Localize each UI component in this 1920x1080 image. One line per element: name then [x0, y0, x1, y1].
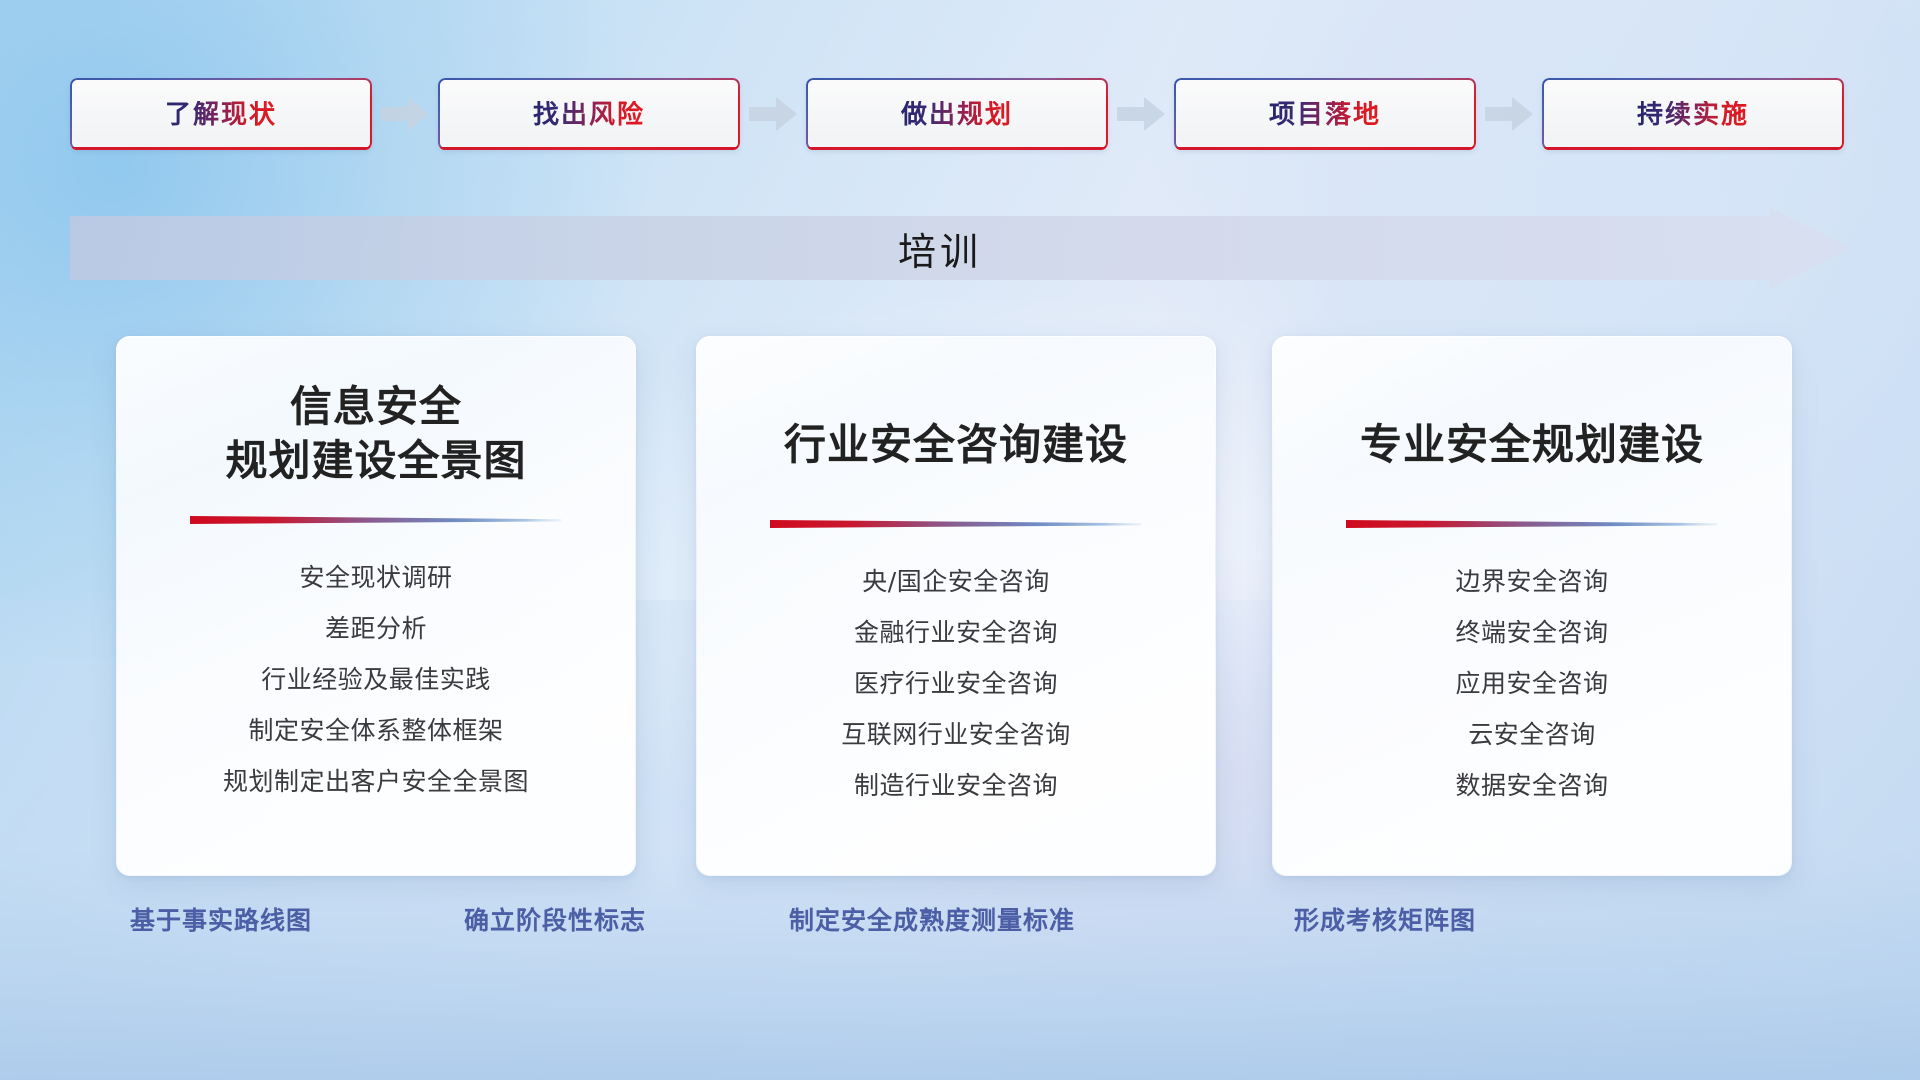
step-label-2: 找出风险: [533, 101, 645, 127]
card-industry-security-consulting[interactable]: 行业安全咨询建设: [696, 336, 1216, 876]
arrow-right-icon: [1108, 78, 1174, 150]
arrow-right-icon: [372, 78, 438, 150]
list-item: 制造行业安全咨询: [724, 760, 1188, 811]
card-divider-1: [190, 514, 561, 526]
card-title-2: 行业安全咨询建设: [784, 380, 1128, 472]
list-item: 云安全咨询: [1300, 709, 1764, 760]
step-label-3: 做出规划: [901, 101, 1013, 127]
arrow-right-icon: [1476, 78, 1542, 150]
card-information-security[interactable]: 信息安全 规划建设全景图: [116, 336, 636, 876]
card-divider-3: [1346, 518, 1717, 530]
footer-caption-4: 形成考核矩阵图: [1294, 908, 1476, 933]
card-title-line: 行业安全咨询建设: [784, 418, 1128, 472]
step-box-2[interactable]: 找出风险: [438, 78, 740, 150]
list-item: 安全现状调研: [144, 552, 608, 603]
step-box-4[interactable]: 项目落地: [1174, 78, 1476, 150]
arrow-right-icon: [740, 78, 806, 150]
list-item: 行业经验及最佳实践: [144, 654, 608, 705]
list-item: 医疗行业安全咨询: [724, 658, 1188, 709]
step-label-4: 项目落地: [1269, 101, 1381, 127]
step-box-5[interactable]: 持续实施: [1542, 78, 1844, 150]
card-list-2: 央/国企安全咨询 金融行业安全咨询 医疗行业安全咨询 互联网行业安全咨询 制造行…: [724, 556, 1188, 811]
list-item: 数据安全咨询: [1300, 760, 1764, 811]
training-band-label: 培训: [70, 208, 1850, 288]
footer-caption-row: 基于事实路线图 确立阶段性标志 制定安全成熟度测量标准 形成考核矩阵图: [0, 908, 1920, 960]
footer-caption-1: 基于事实路线图: [130, 908, 312, 933]
slide-canvas: 了解现状 找出风险 做出规划 项目落地: [0, 0, 1920, 1080]
card-list-3: 边界安全咨询 终端安全咨询 应用安全咨询 云安全咨询 数据安全咨询: [1300, 556, 1764, 811]
list-item: 终端安全咨询: [1300, 607, 1764, 658]
card-title-3: 专业安全规划建设: [1360, 380, 1704, 472]
card-title-line: 专业安全规划建设: [1360, 418, 1704, 472]
step-label-5: 持续实施: [1637, 101, 1749, 127]
list-item: 金融行业安全咨询: [724, 607, 1188, 658]
list-item: 差距分析: [144, 603, 608, 654]
process-step-row: 了解现状 找出风险 做出规划 项目落地: [70, 78, 1850, 150]
card-divider-2: [770, 518, 1141, 530]
footer-caption-2: 确立阶段性标志: [464, 908, 646, 933]
card-title-line: 信息安全: [225, 380, 526, 434]
card-title-1: 信息安全 规划建设全景图: [225, 380, 526, 488]
card-title-line: 规划建设全景图: [225, 434, 526, 488]
list-item: 边界安全咨询: [1300, 556, 1764, 607]
card-professional-security-planning[interactable]: 专业安全规划建设: [1272, 336, 1792, 876]
list-item: 规划制定出客户安全全景图: [144, 756, 608, 807]
list-item: 互联网行业安全咨询: [724, 709, 1188, 760]
step-box-1[interactable]: 了解现状: [70, 78, 372, 150]
list-item: 应用安全咨询: [1300, 658, 1764, 709]
training-band: 培训: [70, 208, 1850, 288]
list-item: 制定安全体系整体框架: [144, 705, 608, 756]
step-box-3[interactable]: 做出规划: [806, 78, 1108, 150]
list-item: 央/国企安全咨询: [724, 556, 1188, 607]
card-group: 信息安全 规划建设全景图: [0, 336, 1920, 876]
background-bottom-edge: [0, 850, 1920, 1080]
step-label-1: 了解现状: [165, 101, 277, 127]
footer-caption-3: 制定安全成熟度测量标准: [789, 908, 1075, 933]
card-list-1: 安全现状调研 差距分析 行业经验及最佳实践 制定安全体系整体框架 规划制定出客户…: [144, 552, 608, 807]
